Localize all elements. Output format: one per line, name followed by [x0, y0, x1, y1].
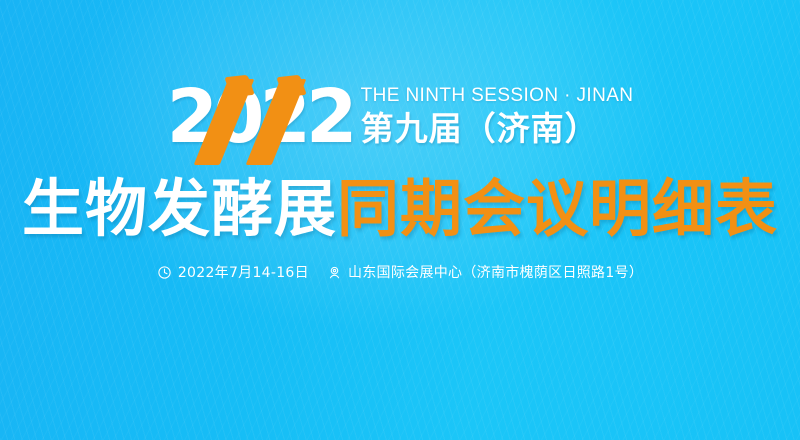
logo-title-group: THE NINTH SESSION · JINAN 第九届（济南） — [361, 84, 634, 145]
page-title-white-part: 生物发酵展 — [22, 172, 337, 245]
event-venue-group: 山东国际会展中心（济南市槐荫区日照路1号） — [327, 262, 643, 282]
chinese-session-line: 第九届（济南） — [361, 112, 634, 145]
year-logo: 2022 — [167, 84, 349, 160]
event-date-group: 2022年7月14-16日 — [157, 262, 309, 282]
event-banner: 2022 THE NINTH SESSION · JINAN 第九届（济南） 生… — [0, 0, 800, 440]
event-date-text: 2022年7月14-16日 — [178, 262, 309, 282]
event-info-line: 2022年7月14-16日 山东国际会展中心（济南市槐荫区日照路1号） — [0, 262, 800, 282]
english-session-line: THE NINTH SESSION · JINAN — [361, 86, 634, 105]
clock-icon — [157, 265, 172, 280]
page-title: 生物发酵展同期会议明细表 — [0, 178, 800, 240]
event-venue-text: 山东国际会展中心（济南市槐荫区日照路1号） — [348, 262, 643, 282]
location-pin-icon — [327, 265, 342, 280]
page-title-orange-part: 同期会议明细表 — [337, 172, 778, 245]
logo-row: 2022 THE NINTH SESSION · JINAN 第九届（济南） — [0, 84, 800, 160]
